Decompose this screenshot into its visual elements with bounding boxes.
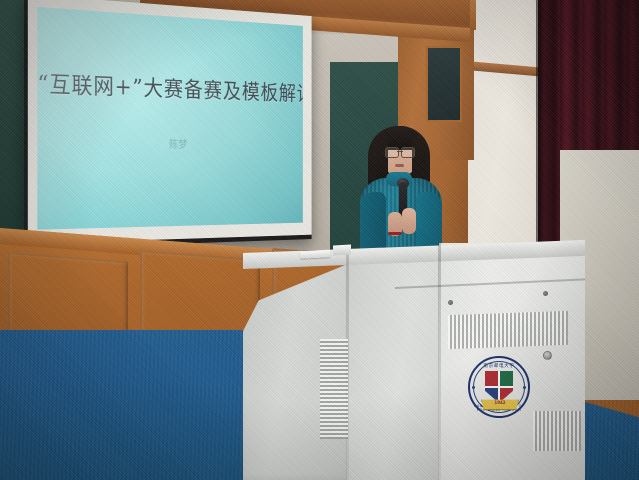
podium-vent-right (448, 311, 568, 349)
emblem-chinese-text: 南京邮电大学 (468, 363, 530, 369)
slide-title: “互联网+”大赛备赛及模板解读 (37, 65, 303, 107)
glasses-icon (385, 147, 415, 156)
emblem-star (472, 386, 475, 389)
podium-screw (448, 300, 453, 305)
screen-glare (37, 7, 303, 230)
lecture-hall-photo: “互联网+”大赛备赛及模板解读 陈梦 (0, 0, 639, 480)
podium-screw (543, 291, 548, 296)
bracelet (388, 232, 402, 235)
glasses-lens-left (385, 147, 399, 158)
podium-vent-lower (533, 411, 581, 451)
emblem-star (523, 386, 526, 389)
podium-lock-knob[interactable] (543, 351, 552, 360)
mouth (395, 164, 404, 167)
glasses-lens-right (401, 147, 415, 158)
podium-corner-edge (438, 243, 441, 480)
projection-screen: “互联网+”大赛备赛及模板解读 陈梦 (24, 0, 312, 249)
slide-surface: “互联网+”大赛备赛及模板解读 陈梦 (37, 7, 303, 230)
slide-subtitle: 陈梦 (37, 134, 303, 152)
shield-quadrant (499, 371, 513, 387)
glasses-bridge (397, 151, 403, 152)
column-dark-panel (426, 46, 462, 122)
university-emblem: 南京邮电大学 NANJING UNIVERSITY OF POSTS AND T… (468, 356, 530, 418)
podium-vent-left (320, 339, 348, 439)
emblem-banner-year: 1942 (482, 400, 518, 405)
podium-front-panel (347, 249, 443, 480)
shield-cross-vertical (498, 371, 500, 403)
speaker (358, 120, 444, 260)
hand-right (402, 208, 416, 234)
remote-on-podium (333, 245, 351, 256)
